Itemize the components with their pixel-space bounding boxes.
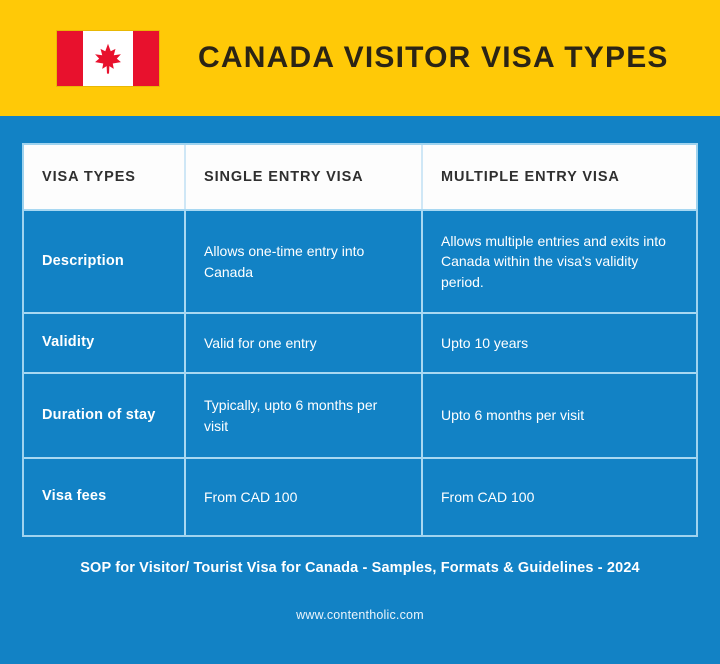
footer-url: www.contentholic.com [0, 608, 720, 622]
table-header-row: VISA TYPES SINGLE ENTRY VISA MULTIPLE EN… [24, 145, 696, 209]
row-label-duration-of-stay: Duration of stay [24, 374, 184, 457]
table-row: Description Allows one-time entry into C… [24, 209, 696, 312]
cell-duration-multiple: Upto 6 months per visit [421, 374, 696, 457]
footer: SOP for Visitor/ Tourist Visa for Canada… [0, 560, 720, 622]
column-header-single-entry: SINGLE ENTRY VISA [184, 145, 421, 209]
page-title: CANADA VISITOR VISA TYPES [198, 43, 669, 73]
flag-right-band [133, 31, 159, 86]
cell-description-single: Allows one-time entry into Canada [184, 211, 421, 312]
table-row: Duration of stay Typically, upto 6 month… [24, 372, 696, 457]
visa-comparison-table: VISA TYPES SINGLE ENTRY VISA MULTIPLE EN… [22, 143, 698, 537]
canada-flag-icon [56, 30, 160, 87]
row-label-visa-fees: Visa fees [24, 459, 184, 535]
cell-validity-multiple: Upto 10 years [421, 314, 696, 372]
column-header-visa-types: VISA TYPES [24, 145, 184, 209]
table-row: Visa fees From CAD 100 From CAD 100 [24, 457, 696, 535]
cell-validity-single: Valid for one entry [184, 314, 421, 372]
cell-description-multiple: Allows multiple entries and exits into C… [421, 211, 696, 312]
visa-types-infographic: CANADA VISITOR VISA TYPES VISA TYPES SIN… [0, 0, 720, 664]
table-row: Validity Valid for one entry Upto 10 yea… [24, 312, 696, 372]
flag-left-band [57, 31, 83, 86]
row-label-description: Description [24, 211, 184, 312]
cell-fees-multiple: From CAD 100 [421, 459, 696, 535]
footer-caption: SOP for Visitor/ Tourist Visa for Canada… [0, 560, 720, 576]
column-header-multiple-entry: MULTIPLE ENTRY VISA [421, 145, 696, 209]
row-label-validity: Validity [24, 314, 184, 372]
maple-leaf-icon [91, 41, 125, 75]
header-band: CANADA VISITOR VISA TYPES [0, 0, 720, 116]
cell-fees-single: From CAD 100 [184, 459, 421, 535]
cell-duration-single: Typically, upto 6 months per visit [184, 374, 421, 457]
